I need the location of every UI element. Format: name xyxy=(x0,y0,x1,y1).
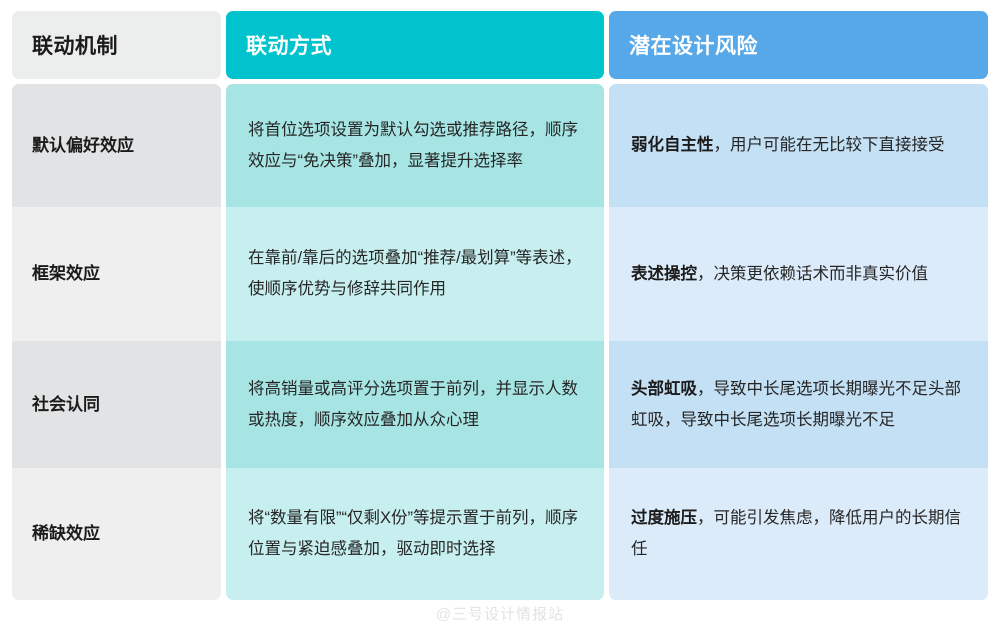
comparison-table: 联动机制 联动方式 潜在设计风险 默认偏好效应 将首位选项设置为默认勾选或推荐路… xyxy=(12,11,988,600)
cell-mechanism: 默认偏好效应 xyxy=(12,84,221,207)
watermark: @三号设计情报站 xyxy=(0,603,1000,624)
table-row: 默认偏好效应 将首位选项设置为默认勾选或推荐路径，顺序效应与“免决策”叠加，显著… xyxy=(12,84,988,207)
cell-mechanism: 社会认同 xyxy=(12,341,221,468)
cell-risk-lead: 头部虹吸 xyxy=(631,380,697,398)
table-row: 稀缺效应 将“数量有限”“仅剩X份”等提示置于前列，顺序位置与紧迫感叠加，驱动即… xyxy=(12,468,988,600)
cell-risk-lead: 表述操控 xyxy=(631,265,697,283)
column-header-method: 联动方式 xyxy=(226,11,604,79)
cell-risk-lead: 弱化自主性 xyxy=(631,136,714,154)
cell-method: 将首位选项设置为默认勾选或推荐路径，顺序效应与“免决策”叠加，显著提升选择率 xyxy=(226,84,604,207)
cell-risk-rest: ，用户可能在无比较下直接接受 xyxy=(714,136,945,154)
table-body: 默认偏好效应 将首位选项设置为默认勾选或推荐路径，顺序效应与“免决策”叠加，显著… xyxy=(12,84,988,600)
cell-method: 在靠前/靠后的选项叠加“推荐/最划算”等表述，使顺序优势与修辞共同作用 xyxy=(226,207,604,341)
column-header-mechanism: 联动机制 xyxy=(12,11,221,79)
table-row: 社会认同 将高销量或高评分选项置于前列，并显示人数或热度，顺序效应叠加从众心理 … xyxy=(12,341,988,468)
cell-risk-lead: 过度施压 xyxy=(631,509,697,527)
cell-mechanism: 框架效应 xyxy=(12,207,221,341)
column-header-risk: 潜在设计风险 xyxy=(609,11,988,79)
cell-risk: 过度施压，可能引发焦虑，降低用户的长期信任 xyxy=(609,468,988,600)
cell-risk: 表述操控，决策更依赖话术而非真实价值 xyxy=(609,207,988,341)
table-header-row: 联动机制 联动方式 潜在设计风险 xyxy=(12,11,988,79)
table-sheet: 联动机制 联动方式 潜在设计风险 默认偏好效应 将首位选项设置为默认勾选或推荐路… xyxy=(0,0,1000,633)
table-row: 框架效应 在靠前/靠后的选项叠加“推荐/最划算”等表述，使顺序优势与修辞共同作用… xyxy=(12,207,988,341)
cell-method: 将高销量或高评分选项置于前列，并显示人数或热度，顺序效应叠加从众心理 xyxy=(226,341,604,468)
cell-risk: 弱化自主性，用户可能在无比较下直接接受 xyxy=(609,84,988,207)
cell-risk: 头部虹吸，导致中长尾选项长期曝光不足头部虹吸，导致中长尾选项长期曝光不足 xyxy=(609,341,988,468)
cell-mechanism: 稀缺效应 xyxy=(12,468,221,600)
cell-risk-rest: ，决策更依赖话术而非真实价值 xyxy=(697,265,928,283)
cell-method: 将“数量有限”“仅剩X份”等提示置于前列，顺序位置与紧迫感叠加，驱动即时选择 xyxy=(226,468,604,600)
